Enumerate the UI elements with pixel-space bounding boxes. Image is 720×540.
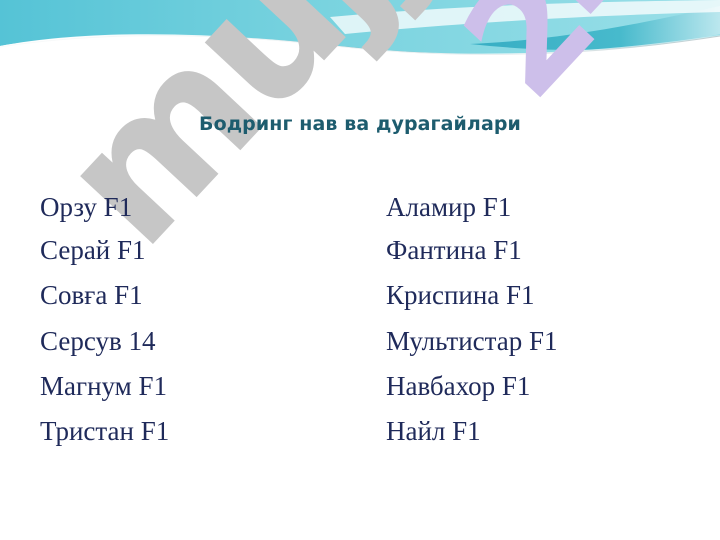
list-item: Магнум F1 xyxy=(40,373,380,400)
list-item: Фантина F1 xyxy=(386,237,706,264)
list-item: Орзу F1 xyxy=(40,194,380,221)
list-item: Серай F1 xyxy=(40,237,380,264)
list-item: Мультистар F1 xyxy=(386,328,706,355)
presentation-slide: mujjal 24 Бодринг нав ва дурагайлари Орз… xyxy=(0,0,720,540)
list-item: Совға F1 xyxy=(40,282,380,309)
list-item: Серсув 14 xyxy=(40,328,380,355)
list-item: Криспина F1 xyxy=(386,282,706,309)
list-item: Тристан F1 xyxy=(40,418,380,445)
left-variety-column: Орзу F1 Серай F1 Совға F1 Серсув 14 Магн… xyxy=(40,194,380,445)
list-item: Найл F1 xyxy=(386,418,706,445)
slide-content: Орзу F1 Серай F1 Совға F1 Серсув 14 Магн… xyxy=(0,0,720,540)
list-item: Аламир F1 xyxy=(386,194,706,221)
right-variety-column: Аламир F1 Фантина F1 Криспина F1 Мультис… xyxy=(386,194,706,445)
list-item: Навбахор F1 xyxy=(386,373,706,400)
